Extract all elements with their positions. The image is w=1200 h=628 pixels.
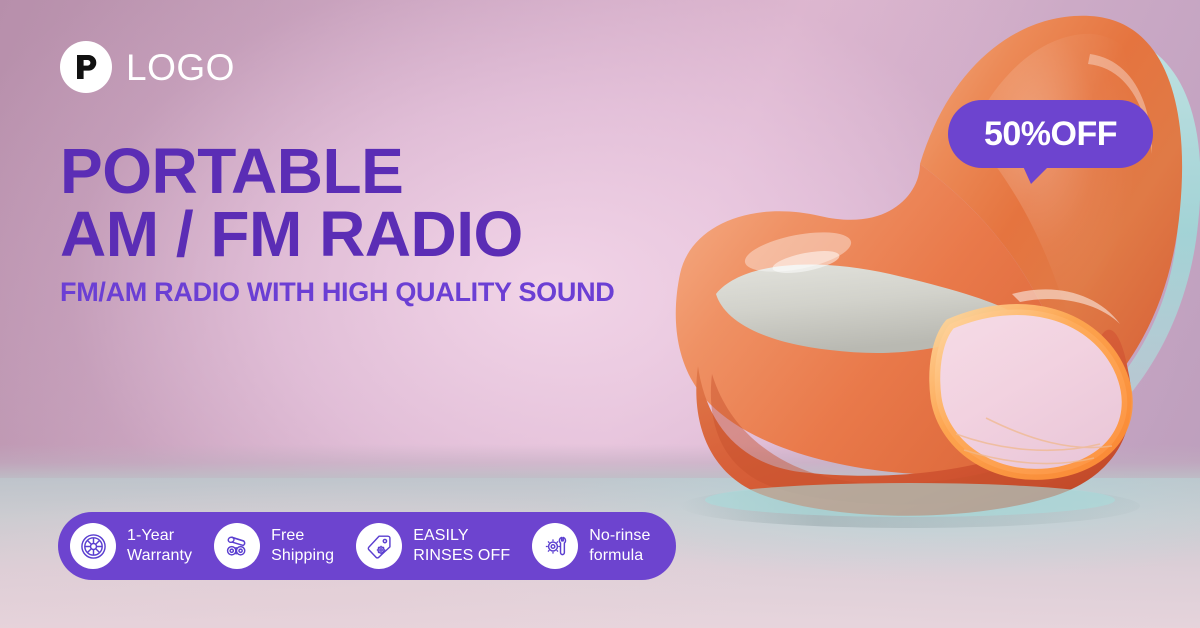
brand-logo[interactable]: LOGO [60, 41, 235, 93]
feature-label-shipping: Free Shipping [271, 526, 334, 565]
headline-subtitle: FM/AM RADIO WITH HIGH QUALITY SOUND [60, 277, 614, 308]
feature-item-rinses-off[interactable]: EASILY RINSES OFF [356, 523, 532, 569]
feature-label-warranty: 1-Year Warranty [127, 526, 192, 565]
promo-banner: LOGO PORTABLE AM / FM RADIO FM/AM RADIO … [0, 0, 1200, 628]
logo-text: LOGO [126, 49, 235, 86]
headline-line-2: AM / FM RADIO [60, 203, 614, 266]
feature-bar: 1-Year Warranty Free Shipping [58, 512, 676, 580]
tag-gear-icon [356, 523, 402, 569]
discount-badge-text: 50%OFF [984, 117, 1117, 151]
feature-item-warranty[interactable]: 1-Year Warranty [70, 523, 214, 569]
product-image [620, 0, 1200, 539]
feature-item-no-rinse[interactable]: No-rinse formula [532, 523, 650, 569]
feature-label-no-rinse: No-rinse formula [589, 526, 650, 565]
discount-badge-body: 50%OFF [948, 100, 1153, 168]
feature-label-rinses-off: EASILY RINSES OFF [413, 526, 510, 565]
feature-item-shipping[interactable]: Free Shipping [214, 523, 356, 569]
gear-wrench-icon [532, 523, 578, 569]
wheel-icon [70, 523, 116, 569]
p-monogram-icon [60, 41, 112, 93]
logs-icon [214, 523, 260, 569]
product-floor-reflection [705, 483, 1115, 517]
discount-badge-tail [1022, 164, 1051, 184]
headline-block: PORTABLE AM / FM RADIO FM/AM RADIO WITH … [60, 140, 614, 308]
discount-badge[interactable]: 50%OFF [948, 100, 1153, 168]
headline-line-1: PORTABLE [60, 140, 614, 203]
